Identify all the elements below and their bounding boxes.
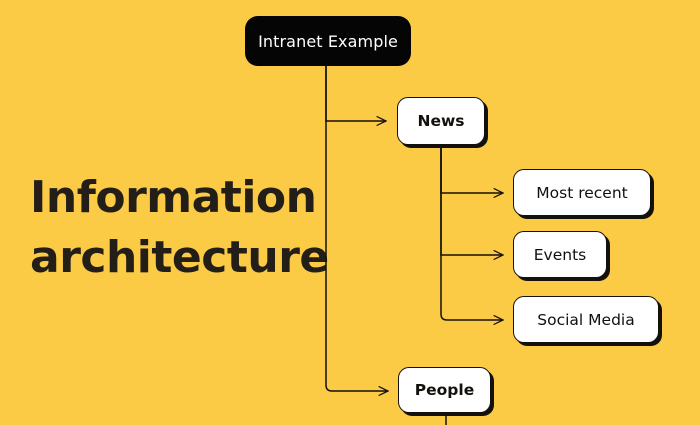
diagram-canvas: Information architecture Intranet Exampl…: [0, 0, 700, 425]
node-events[interactable]: Events: [513, 231, 607, 278]
node-label: News: [417, 112, 464, 130]
node-intranet-example[interactable]: Intranet Example: [245, 16, 411, 66]
node-news[interactable]: News: [397, 97, 485, 145]
connector-news-to-events: [441, 146, 503, 255]
connector-root-to-news: [326, 66, 386, 121]
node-label: People: [415, 381, 474, 399]
node-label: Most recent: [536, 184, 627, 202]
connector-root-to-people: [326, 66, 388, 391]
node-social-media[interactable]: Social Media: [513, 296, 659, 343]
node-label: Intranet Example: [258, 32, 398, 51]
connector-news-to-most-recent: [441, 146, 503, 193]
node-people[interactable]: People: [398, 367, 491, 413]
node-label: Social Media: [537, 311, 634, 329]
connector-news-to-social-media: [441, 146, 503, 320]
node-most-recent[interactable]: Most recent: [513, 169, 651, 216]
node-label: Events: [534, 246, 586, 264]
